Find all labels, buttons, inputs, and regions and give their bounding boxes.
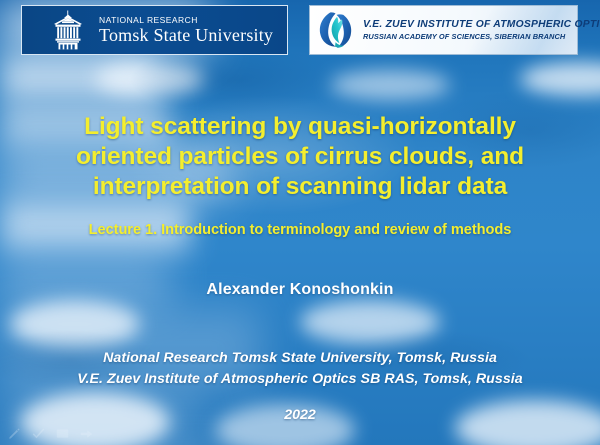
next-arrow-icon[interactable] — [80, 428, 93, 440]
slideshow-controls[interactable] — [8, 427, 93, 440]
tsu-subtitle-line: NATIONAL RESEARCH — [99, 16, 273, 25]
university-building-icon — [48, 10, 88, 50]
iao-name-line: V.E. ZUEV INSTITUTE OF ATMOSPHERIC OPTIC… — [363, 19, 600, 30]
presentation-slide: NATIONAL RESEARCH Tomsk State University — [0, 0, 600, 445]
title-line-2: oriented particles of cirrus clouds, and — [0, 142, 600, 172]
affiliation-2: V.E. Zuev Institute of Atmospheric Optic… — [0, 371, 600, 387]
banner-tomsk-state-university: NATIONAL RESEARCH Tomsk State University — [21, 5, 288, 55]
author-name: Alexander Konoshonkin — [0, 281, 600, 299]
title-line-3: interpretation of scanning lidar data — [0, 172, 600, 202]
lecture-subtitle: Lecture 1. Introduction to terminology a… — [0, 222, 600, 238]
tsu-name-line: Tomsk State University — [99, 26, 273, 45]
pen-icon[interactable] — [8, 427, 21, 440]
iao-subtitle-line: RUSSIAN ACADEMY OF SCIENCES, SIBERIAN BR… — [363, 32, 600, 41]
slide-title: Light scattering by quasi-horizontally o… — [0, 112, 600, 202]
title-line-1: Light scattering by quasi-horizontally — [0, 112, 600, 142]
flame-wave-logo-icon — [317, 10, 356, 51]
banner-zuev-institute: V.E. ZUEV INSTITUTE OF ATMOSPHERIC OPTIC… — [309, 5, 578, 55]
screen-icon[interactable] — [56, 428, 69, 440]
affiliation-1: National Research Tomsk State University… — [0, 350, 600, 366]
check-icon[interactable] — [32, 427, 45, 440]
presentation-year: 2022 — [0, 407, 600, 423]
